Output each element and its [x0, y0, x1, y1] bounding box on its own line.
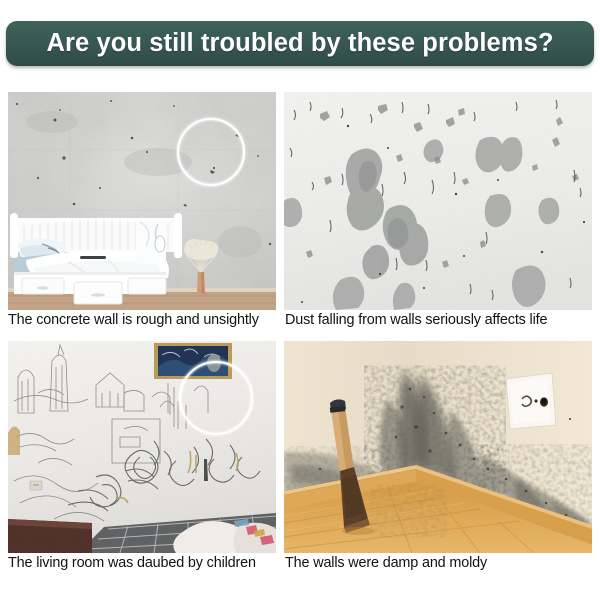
moldy-corner-illustration	[284, 341, 592, 553]
photo-scribbled-wall	[8, 341, 276, 553]
problem-image-grid: The concrete wall is rough and unsightly	[0, 88, 600, 600]
panel-dust-falling	[284, 92, 592, 310]
scribbled-wall-illustration	[8, 341, 276, 553]
photo-peeling-wall	[284, 92, 592, 310]
page-title: Are you still troubled by these problems…	[46, 29, 553, 58]
photo-moldy-corner	[284, 341, 592, 553]
panel-concrete-wall	[8, 92, 276, 310]
panel-damp-mold	[284, 341, 592, 553]
caption-damp-mold: The walls were damp and moldy	[285, 555, 600, 571]
caption-dust-falling: Dust falling from walls seriously affect…	[285, 312, 600, 328]
header-banner: Are you still troubled by these problems…	[6, 21, 594, 66]
panel-child-scribbles	[8, 341, 276, 553]
header-banner-area: Are you still troubled by these problems…	[0, 0, 600, 88]
concrete-wall-illustration	[8, 92, 276, 310]
photo-concrete-wall	[8, 92, 276, 310]
peeling-wall-illustration	[284, 92, 592, 310]
